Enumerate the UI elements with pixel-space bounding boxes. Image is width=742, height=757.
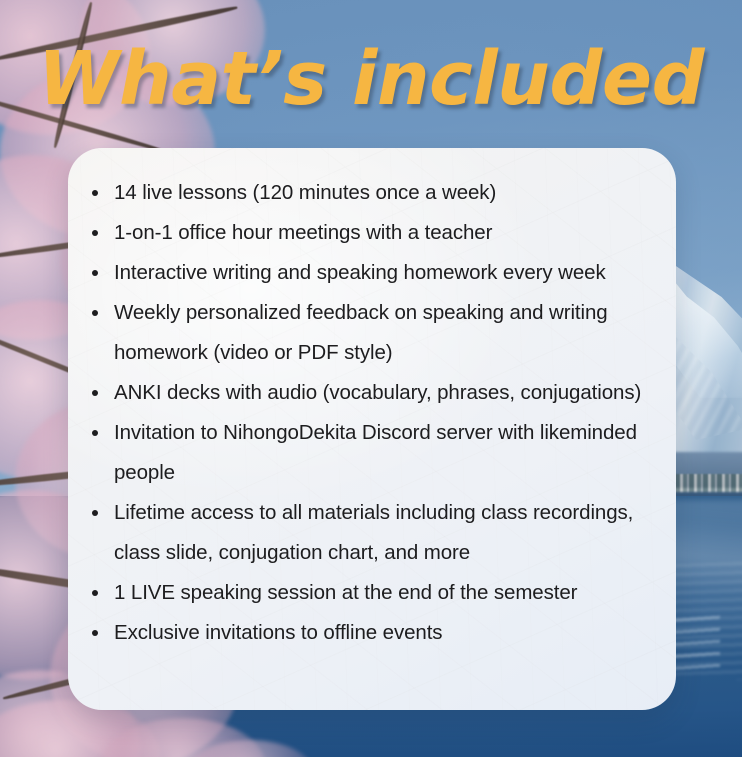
list-item: 1-on-1 office hour meetings with a teach… (90, 213, 650, 253)
list-item: Exclusive invitations to offline events (90, 613, 650, 653)
list-item: Interactive writing and speaking homewor… (90, 253, 650, 293)
list-item: 14 live lessons (120 minutes once a week… (90, 173, 650, 213)
included-features-card: 14 live lessons (120 minutes once a week… (68, 148, 676, 710)
list-item: Lifetime access to all materials includi… (90, 493, 650, 573)
list-item: 1 LIVE speaking session at the end of th… (90, 573, 650, 613)
poster-slide: What’s included 14 live lessons (120 min… (0, 0, 742, 757)
list-item: Weekly personalized feedback on speaking… (90, 293, 650, 373)
page-title: What’s included (0, 36, 742, 122)
included-features-list: 14 live lessons (120 minutes once a week… (68, 148, 676, 653)
list-item: ANKI decks with audio (vocabulary, phras… (90, 373, 650, 413)
list-item: Invitation to NihongoDekita Discord serv… (90, 413, 650, 493)
